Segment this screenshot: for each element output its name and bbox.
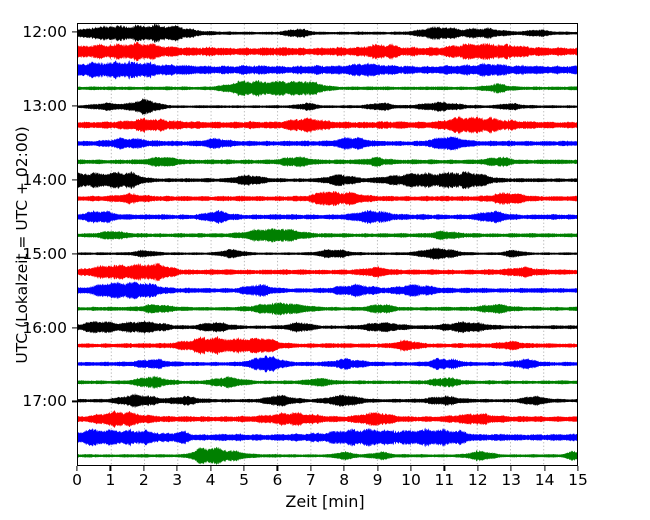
y-tick-label: 12:00 <box>3 23 67 41</box>
x-tick-label: 4 <box>206 471 216 489</box>
x-tick-label: 9 <box>373 471 383 489</box>
x-tick-label: 14 <box>535 471 555 489</box>
seismic-trace <box>78 248 577 259</box>
seismic-traces-layer <box>78 24 577 465</box>
x-tick-label: 11 <box>435 471 455 489</box>
seismic-trace <box>78 337 577 355</box>
x-tick-label: 13 <box>501 471 521 489</box>
x-tick-label: 7 <box>306 471 316 489</box>
seismic-trace <box>78 282 577 299</box>
x-axis-label: Zeit [min] <box>0 492 650 511</box>
seismic-trace <box>78 321 577 333</box>
seismic-trace <box>78 263 577 280</box>
x-tick-label: 0 <box>72 471 82 489</box>
seismic-trace <box>78 356 577 372</box>
seismic-trace <box>78 171 577 189</box>
seismic-trace <box>78 116 577 133</box>
x-tick-label: 15 <box>568 471 588 489</box>
seismic-trace <box>78 191 577 206</box>
x-tick-label: 6 <box>272 471 282 489</box>
seismic-trace <box>78 394 577 407</box>
seismic-trace <box>78 447 577 465</box>
seismic-trace <box>78 228 577 242</box>
y-tick-label: 17:00 <box>3 392 67 410</box>
seismic-trace <box>78 42 577 61</box>
y-axis-label: UTC (Lokalzeit = UTC + 02:00) <box>13 115 31 375</box>
x-tick-label: 2 <box>139 471 149 489</box>
seismic-trace <box>78 61 577 79</box>
seismic-trace <box>78 137 577 151</box>
seismic-trace <box>78 210 577 223</box>
y-tick-label: 13:00 <box>3 97 67 115</box>
x-tick-label: 10 <box>401 471 421 489</box>
x-tick-label: 3 <box>172 471 182 489</box>
seismic-trace <box>78 428 577 446</box>
seismic-trace <box>78 157 577 167</box>
seismic-trace <box>78 24 577 43</box>
seismic-trace <box>78 376 577 388</box>
x-tick-label: 1 <box>105 471 115 489</box>
seismic-trace <box>78 411 577 428</box>
seismic-trace <box>78 302 577 315</box>
x-tick-label: 5 <box>239 471 249 489</box>
seismic-trace <box>78 99 577 115</box>
plot-area <box>77 23 578 466</box>
x-tick-label: 12 <box>468 471 488 489</box>
x-tick-label: 8 <box>339 471 349 489</box>
seismic-trace <box>78 80 577 97</box>
seismogram-figure: 12:0013:0014:0015:0016:0017:00 012345678… <box>0 0 650 520</box>
